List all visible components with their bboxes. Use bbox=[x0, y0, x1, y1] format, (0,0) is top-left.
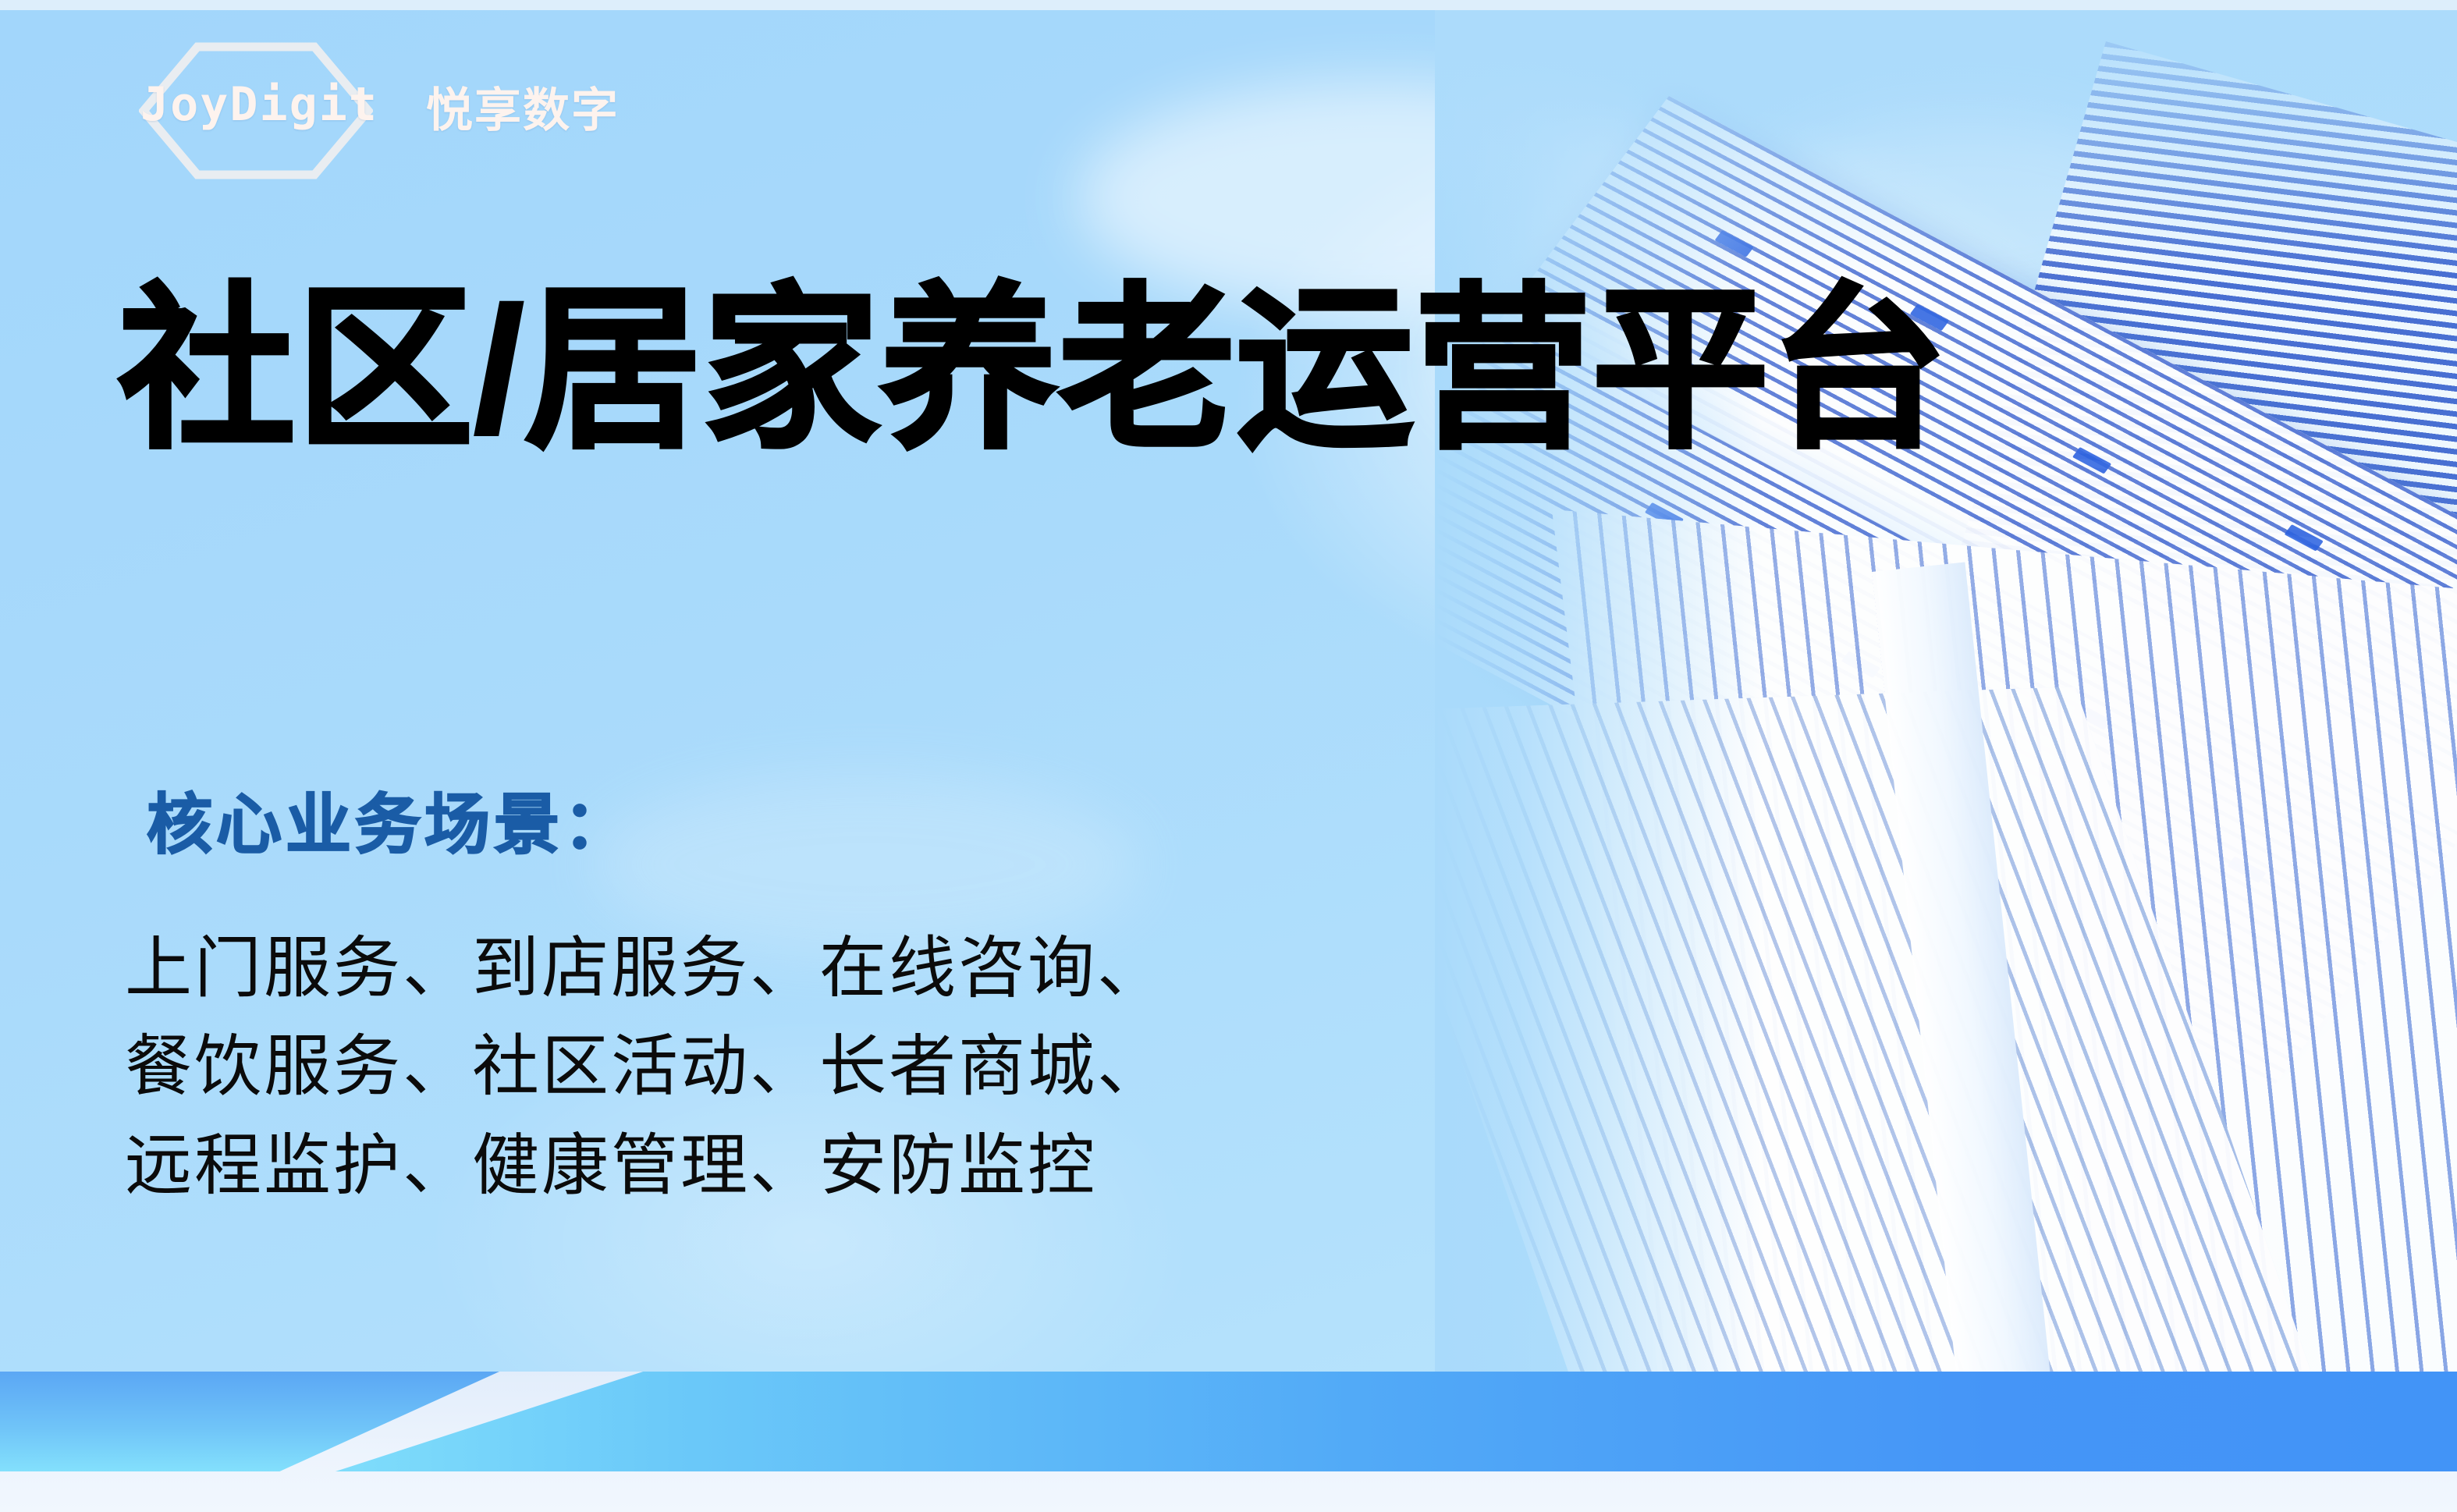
window-accent bbox=[2072, 447, 2111, 474]
page-title: 社区/居家养老运营平台 bbox=[119, 275, 1948, 465]
bottom-decoration-band bbox=[0, 1372, 2457, 1512]
band-main-parallelogram bbox=[336, 1372, 2457, 1471]
photo-top-fade bbox=[1435, 10, 2457, 275]
logo-latin-text: JoyDigit bbox=[140, 81, 378, 128]
section-label-core-scenarios: 核心业务场景： bbox=[147, 772, 633, 867]
scenario-list: 上门服务、到店服务、在线咨询、 餐饮服务、社区活动、长者商城、 远程监护、健康管… bbox=[125, 919, 1166, 1215]
scenario-line: 上门服务、到店服务、在线咨询、 bbox=[125, 919, 1166, 1017]
top-edge-strip bbox=[0, 0, 2457, 10]
slide-canvas: JoyDigit 悦享数字 社区/居家养老运营平台 核心业务场景： 上门服务、到… bbox=[0, 0, 2457, 1512]
scenario-line: 餐饮服务、社区活动、长者商城、 bbox=[125, 1017, 1166, 1116]
logo-chinese-text: 悦享数字 bbox=[426, 87, 620, 134]
window-accent bbox=[2285, 524, 2324, 552]
hexagon-icon: JoyDigit bbox=[139, 67, 303, 154]
scenario-line: 远程监护、健康管理、安防监控 bbox=[125, 1116, 1166, 1215]
brand-logo[interactable]: JoyDigit 悦享数字 bbox=[139, 67, 620, 154]
skyscraper-photo bbox=[1435, 10, 2457, 1372]
